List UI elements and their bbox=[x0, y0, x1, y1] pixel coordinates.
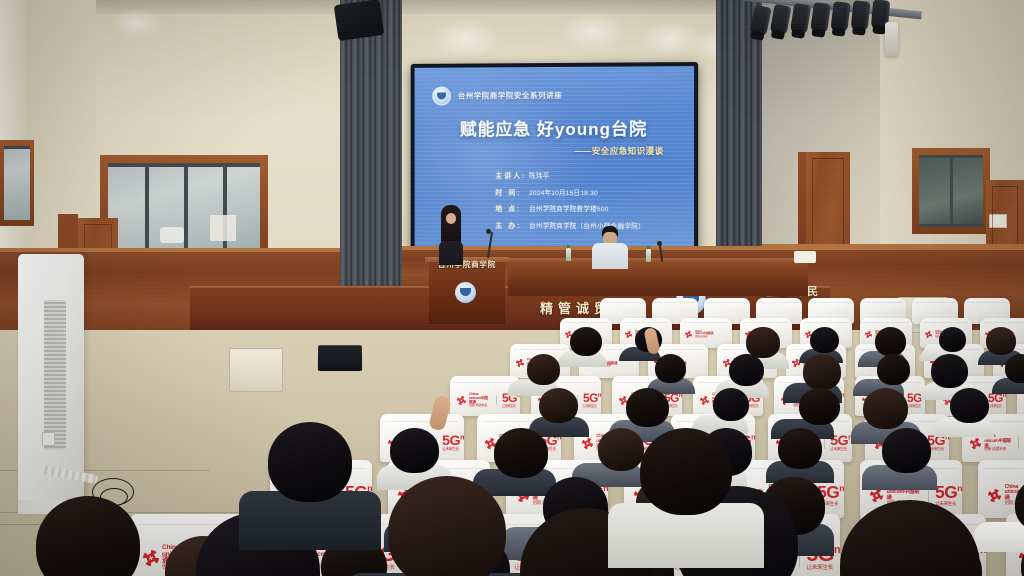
spotlight-cluster-left bbox=[334, 0, 385, 41]
slide-detail-row: 主讲人: 陈玮平 bbox=[495, 170, 645, 181]
lecture-hall-photo: 台州学院商学院安全系列讲座 赋能应急 好young台院 ——安全应急知识漫谈 主… bbox=[0, 0, 1024, 576]
chair-crease bbox=[863, 302, 903, 303]
audience-member-head bbox=[494, 428, 548, 477]
five-g-mark: 5Gn让未来生长 bbox=[935, 484, 962, 506]
china-unicom-knot-icon bbox=[870, 489, 883, 502]
detail-key: 主讲人: bbox=[495, 171, 529, 181]
official-torso bbox=[592, 243, 628, 269]
audience-member-head bbox=[931, 354, 968, 388]
school-emblem-icon bbox=[432, 87, 451, 106]
audience-member-head bbox=[803, 354, 841, 389]
stage-spotlight bbox=[850, 0, 870, 32]
wall-sheen bbox=[560, 12, 626, 50]
brand-divider bbox=[1018, 437, 1019, 449]
audience-member-head bbox=[746, 327, 779, 358]
detail-value: 台州学院商学院教学楼500 bbox=[529, 203, 609, 213]
china-unicom-wordmark: Chinaunicom中国联通创新 成就未来 bbox=[695, 331, 713, 339]
seated-official bbox=[592, 226, 628, 268]
slide-main-title: 赋能应急 好young台院 bbox=[415, 115, 695, 141]
china-unicom-wordmark: Chinaunicom中国联通创新 成就未来 bbox=[984, 434, 1012, 452]
five-g-superscript: n bbox=[679, 393, 682, 399]
audience-member-head bbox=[655, 354, 686, 383]
five-g-superscript: n bbox=[598, 393, 601, 399]
five-g-superscript: n bbox=[957, 484, 962, 494]
wainscot-trim bbox=[402, 246, 1024, 250]
sliding-window-right bbox=[912, 148, 990, 234]
five-g-tagline: 让未来生长 bbox=[830, 448, 852, 452]
china-unicom-knot-icon bbox=[925, 331, 932, 338]
five-g-tagline: 让未来生长 bbox=[988, 405, 1006, 408]
wainscot-trim bbox=[0, 248, 340, 252]
chair-crease bbox=[454, 382, 516, 383]
water-bottle bbox=[646, 249, 651, 262]
china-unicom-knot-icon bbox=[457, 396, 466, 405]
audience-member-head bbox=[626, 388, 669, 427]
audience-member-head-foreground bbox=[36, 496, 140, 576]
wall-sheen bbox=[430, 18, 500, 58]
tissue-box bbox=[794, 251, 816, 263]
brand-divider bbox=[824, 437, 825, 449]
five-g-label: 5G bbox=[583, 391, 598, 405]
audience-member-head bbox=[598, 428, 644, 471]
audience-member-head bbox=[570, 327, 602, 356]
brand-tagline: 创新 成就未来 bbox=[695, 336, 713, 338]
chair-cover: Chinaunicom中国联通创新 成就未来5Gn让未来生长 bbox=[450, 376, 520, 416]
audience-member-head bbox=[1005, 354, 1024, 383]
chair-crease bbox=[983, 322, 1024, 323]
chair-crease bbox=[623, 322, 669, 323]
five-g-superscript: n bbox=[460, 433, 464, 441]
five-g-tagline: 让未来生长 bbox=[806, 566, 840, 572]
audience-member-head bbox=[778, 428, 822, 468]
presenter-face bbox=[446, 213, 456, 224]
chair-crease bbox=[915, 302, 955, 303]
five-g-tagline: 让未来生长 bbox=[442, 448, 464, 452]
audience-member-head bbox=[875, 327, 907, 356]
chair-crease bbox=[967, 302, 1007, 303]
audience-member-head bbox=[877, 354, 910, 384]
chair-crease bbox=[759, 302, 799, 303]
audience-member-head bbox=[950, 388, 989, 423]
door-notice bbox=[989, 214, 1007, 228]
five-g-mark: 5Gn让未来生长 bbox=[583, 393, 601, 408]
sliding-window-left bbox=[100, 155, 268, 260]
chair-crease bbox=[385, 421, 459, 422]
audience-member-head bbox=[810, 327, 839, 353]
brand-divider bbox=[496, 395, 497, 405]
chair-crease bbox=[811, 302, 851, 303]
wall-sheen bbox=[110, 8, 164, 38]
five-g-superscript: n bbox=[1003, 393, 1006, 399]
head-table bbox=[508, 262, 808, 296]
audience-member-head bbox=[799, 388, 840, 425]
slide-org-banner: 台州学院商学院安全系列讲座 bbox=[458, 90, 563, 101]
chair-crease bbox=[743, 322, 789, 323]
audience-member-head-foreground bbox=[268, 422, 352, 502]
chair-crease bbox=[514, 349, 567, 350]
audience-member-head bbox=[527, 354, 560, 384]
water-bottle bbox=[566, 248, 571, 261]
five-g-label: 5G bbox=[907, 391, 922, 405]
chair-crease bbox=[683, 322, 729, 323]
five-g-superscript: n bbox=[839, 484, 844, 494]
slide-detail-row: 时 间: 2024年10月15日18:30 bbox=[495, 186, 645, 197]
audience-member-head bbox=[713, 388, 749, 421]
china-unicom-knot-icon bbox=[143, 550, 159, 566]
stage-curtain-left bbox=[340, 0, 402, 300]
slide-subtitle: ——安全应急知识漫谈 bbox=[574, 145, 664, 157]
microphone-head bbox=[486, 229, 491, 234]
chair-crease bbox=[863, 322, 909, 323]
chair-crease bbox=[707, 302, 747, 303]
detail-value: 陈玮平 bbox=[529, 170, 549, 180]
five-g-tagline: 让未来生长 bbox=[502, 405, 520, 408]
china-unicom-knot-icon bbox=[685, 331, 692, 338]
china-unicom-knot-icon bbox=[625, 331, 632, 338]
audience-member-head bbox=[390, 428, 439, 473]
wall-emergency-light bbox=[885, 22, 898, 56]
audience-seating: Chinaunicom中国联通创新 成就未来Chinaunicom中国联通创新 … bbox=[0, 300, 1024, 576]
chair-crease bbox=[655, 302, 695, 303]
five-g-superscript: n bbox=[751, 433, 755, 441]
audience-member-head bbox=[986, 327, 1016, 355]
china-unicom-knot-icon bbox=[700, 396, 709, 405]
sliding-window-far-left bbox=[0, 140, 34, 226]
china-unicom-knot-icon bbox=[865, 331, 872, 338]
china-unicom-knot-icon bbox=[970, 438, 981, 449]
brand-tagline: 创新 成就未来 bbox=[984, 448, 1012, 452]
china-unicom-knot-icon bbox=[582, 438, 593, 449]
chair-crease bbox=[563, 322, 609, 323]
chair-crease bbox=[603, 302, 643, 303]
five-g-tagline: 让未来生长 bbox=[583, 405, 601, 408]
five-g-superscript: n bbox=[834, 544, 840, 556]
five-g-tagline: 让未来生长 bbox=[907, 405, 925, 408]
brand-tagline: 创新 成就未来 bbox=[469, 404, 491, 407]
audience-member-head-foreground bbox=[640, 428, 732, 515]
chair-crease bbox=[923, 322, 969, 323]
microphone-head bbox=[657, 241, 662, 246]
audience-member-head bbox=[882, 428, 931, 473]
detail-key: 时 间: bbox=[495, 187, 529, 197]
detail-value: 2024年10月15日18:30 bbox=[529, 186, 598, 196]
chair-branding: Chinaunicom中国联通创新 成就未来5Gn让未来生长 bbox=[970, 434, 1024, 452]
slide-detail-row: 地 点: 台州学院商学院教学楼500 bbox=[495, 203, 645, 214]
brand-divider bbox=[928, 488, 929, 502]
five-g-label: 5G bbox=[935, 482, 957, 502]
audience-member-head bbox=[539, 388, 578, 423]
china-unicom-wordmark: Chinaunicom中国联通创新 成就未来 bbox=[469, 393, 491, 408]
detail-key: 主 办: bbox=[495, 220, 529, 230]
audience-member-head bbox=[729, 354, 764, 386]
female-presenter bbox=[436, 205, 466, 263]
detail-key: 地 点: bbox=[495, 204, 529, 214]
china-unicom-knot-icon bbox=[516, 359, 524, 367]
audience-member-head bbox=[939, 327, 966, 352]
china-unicom-knot-icon bbox=[988, 489, 1001, 502]
five-g-mark: 5Gn让未来生长 bbox=[442, 434, 464, 452]
chair-crease bbox=[803, 322, 849, 323]
chair-branding: Chinaunicom中国联通创新 成就未来 bbox=[685, 331, 713, 339]
five-g-mark: 5Gn让未来生长 bbox=[988, 393, 1006, 408]
audience-member-shoulders bbox=[974, 522, 1024, 552]
audience-member-head bbox=[863, 388, 908, 429]
chair-crease bbox=[984, 468, 1024, 469]
